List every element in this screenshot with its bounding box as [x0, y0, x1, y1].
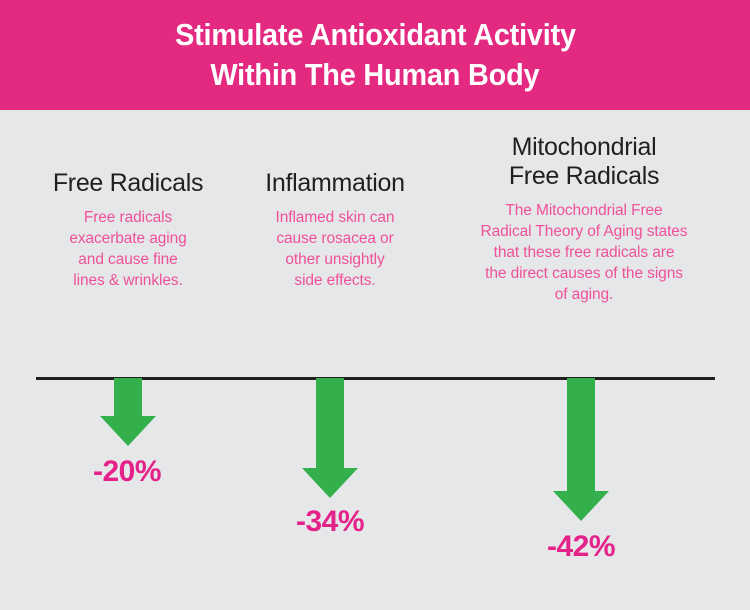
- percent-label-mitochondrial: -42%: [516, 530, 646, 564]
- header-title-line-1: Stimulate Antioxidant Activity: [175, 15, 576, 55]
- down-arrow-icon: [302, 378, 358, 498]
- percent-label-free-radicals: -20%: [62, 455, 192, 489]
- infographic-root: Stimulate Antioxidant Activity Within Th…: [0, 0, 750, 610]
- column-body-text: Free radicals exacerbate aging and cause…: [16, 207, 240, 291]
- column-heading: Inflammation: [240, 169, 430, 198]
- column-free-radicals: Free Radicals Free radicals exacerbate a…: [16, 169, 240, 291]
- column-body-text: Inflamed skin can cause rosacea or other…: [240, 207, 430, 291]
- column-body-text: The Mitochondrial Free Radical Theory of…: [438, 200, 730, 305]
- down-arrow-icon: [100, 378, 156, 446]
- columns-section: Free Radicals Free radicals exacerbate a…: [0, 110, 750, 370]
- percent-label-inflammation: -34%: [265, 505, 395, 539]
- column-mitochondrial-free-radicals: Mitochondrial Free Radicals The Mitochon…: [438, 133, 730, 305]
- header-banner: Stimulate Antioxidant Activity Within Th…: [0, 0, 750, 110]
- column-heading: Free Radicals: [16, 169, 240, 198]
- down-arrow-icon: [553, 378, 609, 521]
- header-title-line-2: Within The Human Body: [211, 55, 540, 95]
- column-heading: Mitochondrial Free Radicals: [438, 133, 730, 191]
- column-inflammation: Inflammation Inflamed skin can cause ros…: [240, 169, 430, 291]
